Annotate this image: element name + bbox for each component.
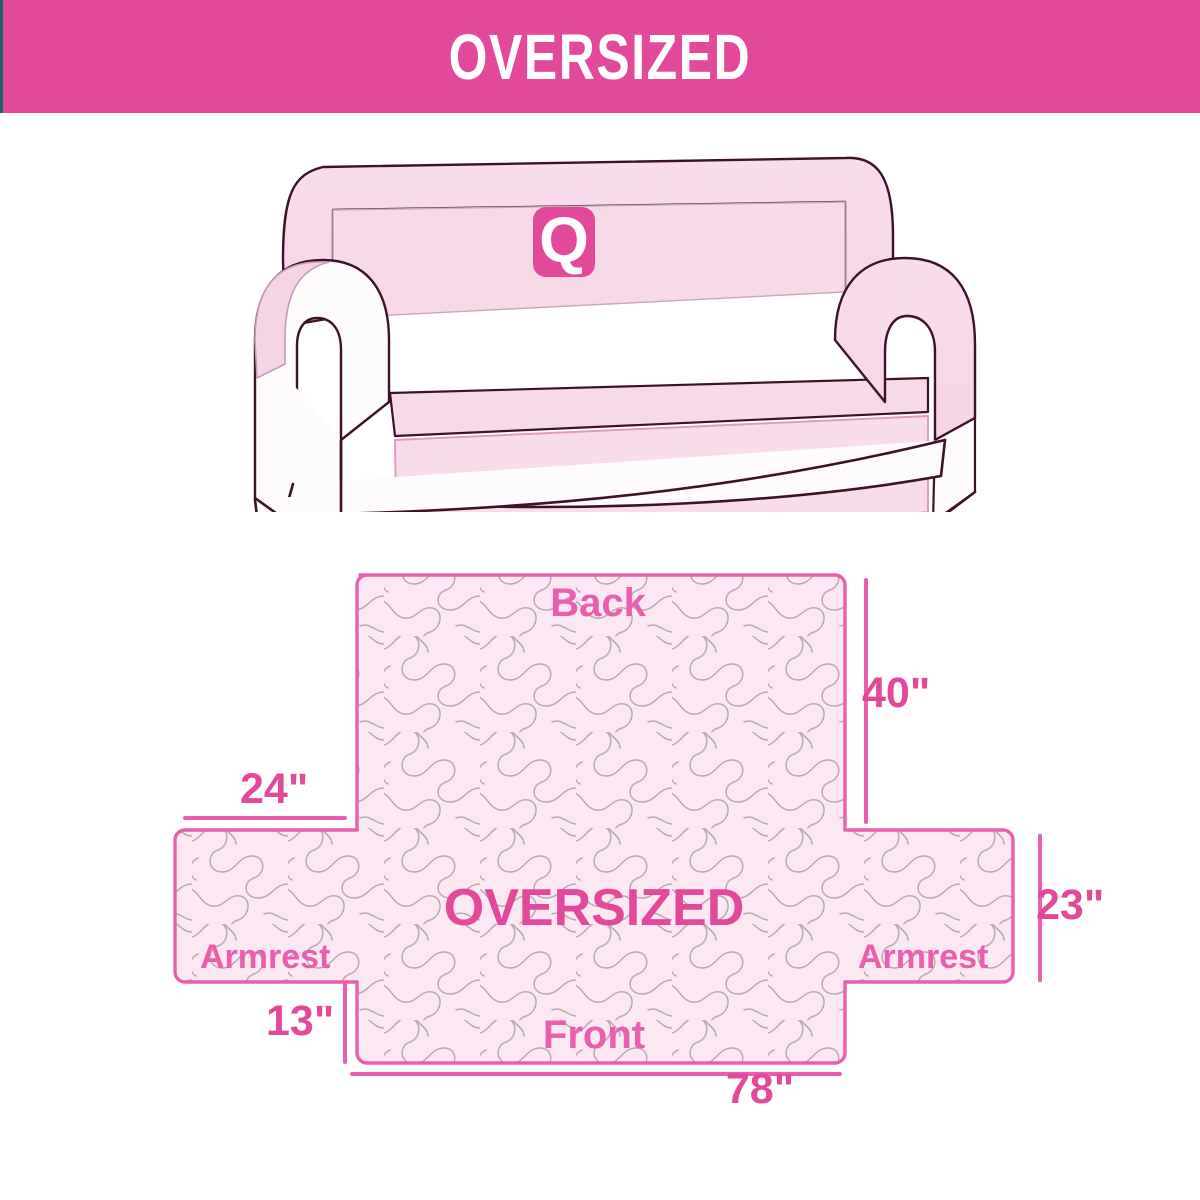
panel-label-front: Front [543, 1015, 645, 1055]
dimension-label-armrest-width: 24" [240, 768, 308, 811]
dimension-label-armrest-depth: 23" [1036, 884, 1104, 927]
diagram-center-label: OVERSIZED [444, 882, 745, 934]
sofa-badge: Q [533, 204, 595, 277]
dimension-label-total-width: 78" [726, 1068, 794, 1111]
dimension-label-front-skirt: 13" [266, 1000, 334, 1043]
dimension-label-back-height: 40" [862, 672, 930, 715]
header-banner: OVERSIZED [0, 0, 1200, 113]
panel-label-armrest-right: Armrest [858, 940, 988, 974]
sofa-illustration: Q [245, 140, 985, 512]
panel-label-armrest-left: Armrest [200, 940, 330, 974]
svg-text:Q: Q [539, 204, 589, 276]
page-title: OVERSIZED [449, 25, 752, 89]
panel-label-back: Back [550, 583, 646, 623]
